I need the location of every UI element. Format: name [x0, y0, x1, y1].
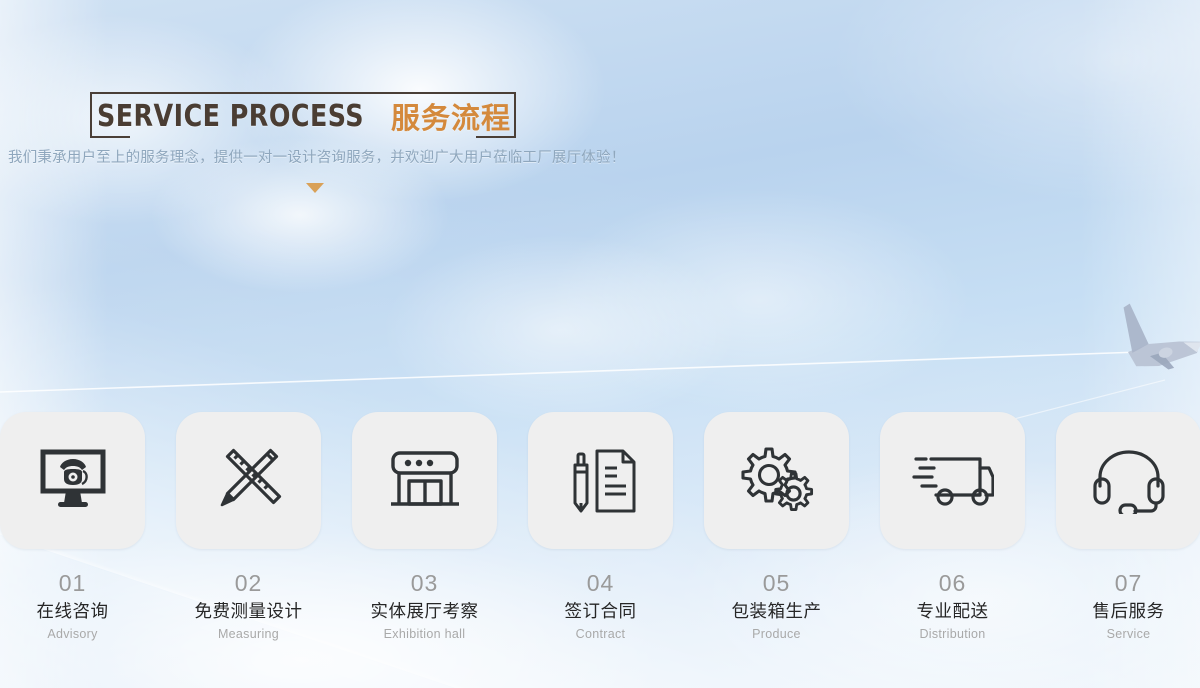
process-card-06[interactable]: [880, 412, 1025, 549]
ruler-pencil-icon: [214, 446, 284, 516]
step-number: 02: [176, 568, 321, 598]
title-chinese: 服务流程: [391, 95, 511, 137]
step-label-04: 04 签订合同 Contract: [528, 568, 673, 644]
process-label-row: 01 在线咨询 Advisory 02 免费测量设计 Measuring 03 …: [0, 568, 1200, 658]
headset-icon: [1092, 448, 1166, 514]
step-label-06: 06 专业配送 Distribution: [880, 568, 1025, 644]
title-english: SERVICE PROCESS: [97, 99, 364, 134]
triangle-down-icon: [306, 183, 324, 193]
page-title: SERVICE PROCESS 服务流程: [132, 94, 476, 138]
step-title-cn: 签订合同: [528, 598, 673, 624]
section-subtitle: 我们秉承用户至上的服务理念，提供一对一设计咨询服务，并欢迎广大用户莅临工厂展厅体…: [8, 146, 688, 167]
step-number: 03: [352, 568, 497, 598]
delivery-truck-icon: [912, 453, 994, 509]
step-title-cn: 免费测量设计: [176, 598, 321, 624]
process-card-row: [0, 412, 1200, 550]
step-title-en: Measuring: [176, 624, 321, 644]
step-title-cn: 专业配送: [880, 598, 1025, 624]
gears-icon: [738, 446, 816, 516]
bracket-right-vertical: [514, 92, 516, 138]
step-title-en: Exhibition hall: [352, 624, 497, 644]
step-number: 06: [880, 568, 1025, 598]
process-card-02[interactable]: [176, 412, 321, 549]
bracket-bottom-left-line: [90, 136, 130, 138]
process-card-05[interactable]: [704, 412, 849, 549]
step-title-en: Advisory: [0, 624, 145, 644]
storefront-icon: [389, 450, 461, 512]
step-title-en: Contract: [528, 624, 673, 644]
bracket-left-vertical: [90, 92, 92, 138]
step-label-02: 02 免费测量设计 Measuring: [176, 568, 321, 644]
step-label-05: 05 包装箱生产 Produce: [704, 568, 849, 644]
step-number: 04: [528, 568, 673, 598]
step-number: 05: [704, 568, 849, 598]
title-bracket-frame: SERVICE PROCESS 服务流程: [90, 92, 516, 142]
step-title-cn: 售后服务: [1056, 598, 1200, 624]
step-label-01: 01 在线咨询 Advisory: [0, 568, 145, 644]
step-title-en: Service: [1056, 624, 1200, 644]
step-label-03: 03 实体展厅考察 Exhibition hall: [352, 568, 497, 644]
process-card-03[interactable]: [352, 412, 497, 549]
step-title-en: Distribution: [880, 624, 1025, 644]
step-title-cn: 实体展厅考察: [352, 598, 497, 624]
pen-document-icon: [565, 448, 637, 514]
step-title-en: Produce: [704, 624, 849, 644]
step-number: 07: [1056, 568, 1200, 598]
monitor-phone-icon: [36, 449, 110, 513]
step-title-cn: 在线咨询: [0, 598, 145, 624]
process-card-04[interactable]: [528, 412, 673, 549]
step-number: 01: [0, 568, 145, 598]
step-title-cn: 包装箱生产: [704, 598, 849, 624]
process-card-07[interactable]: [1056, 412, 1200, 549]
step-label-07: 07 售后服务 Service: [1056, 568, 1200, 644]
process-card-01[interactable]: [0, 412, 145, 549]
